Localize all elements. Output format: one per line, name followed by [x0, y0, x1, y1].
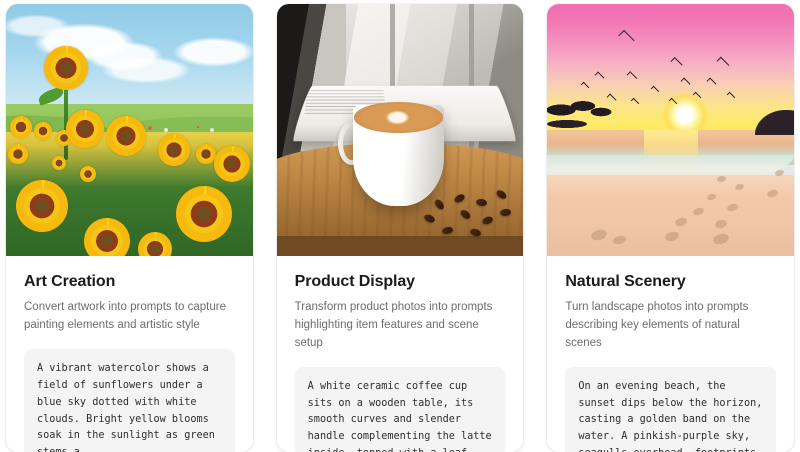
beach-sunset-photo — [547, 4, 794, 256]
card-body: Natural Scenery Turn landscape photos in… — [547, 256, 794, 452]
example-card-gallery: Art Creation Convert artwork into prompt… — [0, 0, 800, 452]
sunflower-blooms — [6, 4, 253, 256]
card-description: Turn landscape photos into prompts descr… — [565, 299, 776, 352]
card-description: Transform product photos into prompts hi… — [295, 299, 506, 352]
card-title: Product Display — [295, 273, 506, 291]
card-thumbnail-product-display[interactable] — [277, 4, 524, 256]
card-description: Convert artwork into prompts to capture … — [24, 299, 235, 335]
card-thumbnail-art-creation[interactable] — [6, 4, 253, 256]
example-card-natural-scenery[interactable]: Natural Scenery Turn landscape photos in… — [547, 4, 794, 452]
prompt-text: A white ceramic coffee cup sits on a woo… — [308, 379, 493, 452]
prompt-text: On an evening beach, the sunset dips bel… — [578, 379, 763, 452]
card-title: Art Creation — [24, 273, 235, 291]
card-thumbnail-natural-scenery[interactable] — [547, 4, 794, 256]
example-card-product-display[interactable]: Product Display Transform product photos… — [277, 4, 524, 452]
example-card-art-creation[interactable]: Art Creation Convert artwork into prompt… — [6, 4, 253, 452]
card-body: Product Display Transform product photos… — [277, 256, 524, 452]
palm-tree-silhouette — [547, 100, 616, 145]
prompt-preview-box[interactable]: A white ceramic coffee cup sits on a woo… — [295, 367, 506, 452]
prompt-text: A vibrant watercolor shows a field of su… — [37, 361, 222, 452]
leaf-latte-art — [378, 106, 417, 129]
prompt-preview-box[interactable]: A vibrant watercolor shows a field of su… — [24, 349, 235, 452]
sunflower-field-illustration — [6, 4, 253, 256]
sand-layer — [547, 175, 794, 256]
card-body: Art Creation Convert artwork into prompt… — [6, 256, 253, 452]
coffee-beans — [420, 185, 514, 240]
prompt-preview-box[interactable]: On an evening beach, the sunset dips bel… — [565, 367, 776, 452]
card-title: Natural Scenery — [565, 273, 776, 291]
headland-silhouette — [755, 110, 794, 135]
coffee-cup-photo — [277, 4, 524, 256]
